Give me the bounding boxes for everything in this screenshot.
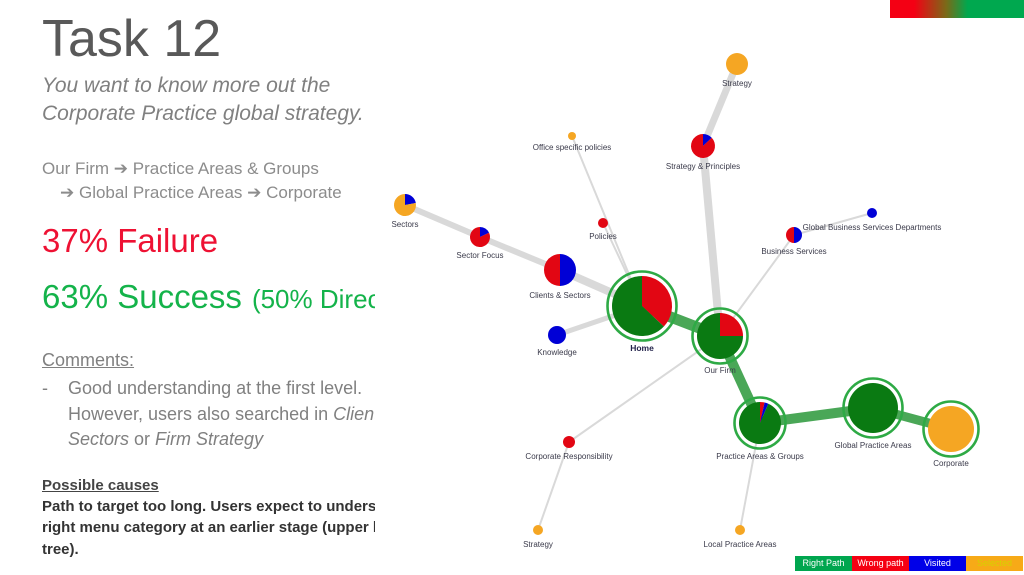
- legend-item-wrong-path[interactable]: Wrong path: [852, 556, 909, 571]
- graph-node-policies[interactable]: [598, 218, 608, 228]
- graph-node-knowledge[interactable]: [548, 326, 566, 344]
- graph-node-label-global_practice_areas: Global Practice Areas: [835, 441, 912, 450]
- task-subtitle: You want to know more out the Corporate …: [42, 72, 382, 127]
- node-pie-slice: [544, 254, 560, 286]
- node-pie-slice: [533, 525, 543, 535]
- graph-node-label-office_specific_policies: Office specific policies: [533, 143, 612, 152]
- node-pie-slice: [563, 436, 575, 448]
- navigation-graph-canvas[interactable]: StrategyOffice specific policiesStrategy…: [375, 18, 1024, 556]
- graph-edge-layer: [405, 64, 951, 530]
- slide-text-panel: Task 12 You want to know more out the Co…: [0, 0, 375, 575]
- node-pie-slice: [568, 132, 576, 140]
- node-pie-slice: [786, 227, 794, 243]
- graph-edge: [703, 64, 737, 146]
- node-pie-slice: [928, 406, 974, 452]
- graph-node-label-our_firm: Our Firm: [704, 366, 736, 375]
- legend: Right Path Wrong path Visited Selected: [795, 556, 1023, 571]
- graph-node-strategy_bottom[interactable]: [533, 525, 543, 535]
- possible-causes-heading: Possible causes: [42, 477, 159, 494]
- graph-node-label-strategy_top: Strategy: [722, 79, 752, 88]
- graph-node-office_specific_policies[interactable]: [568, 132, 576, 140]
- success-rate: 63% Success: [42, 278, 242, 315]
- graph-node-label-practice_areas_groups: Practice Areas & Groups: [716, 452, 804, 461]
- graph-node-business_services[interactable]: [786, 227, 802, 243]
- failure-rate: 37% Failure: [42, 222, 218, 260]
- graph-node-home[interactable]: [608, 272, 677, 341]
- node-pie-slice: [548, 326, 566, 344]
- node-pie-slice: [848, 383, 898, 433]
- legend-item-visited[interactable]: Visited: [909, 556, 966, 571]
- comment-text-1: Good understanding at the first level. H…: [68, 378, 362, 424]
- graph-node-global_practice_areas[interactable]: [844, 379, 903, 438]
- legend-item-selected[interactable]: Selected: [966, 556, 1023, 571]
- comment-italic-2: Firm Strategy: [155, 429, 263, 449]
- graph-node-label-corporate: Corporate: [933, 459, 969, 468]
- comment-bullet-dash: -: [42, 376, 48, 402]
- graph-node-clients_sectors[interactable]: [544, 254, 576, 286]
- graph-node-label-business_services: Business Services: [761, 247, 826, 256]
- page-title: Task 12: [42, 12, 221, 67]
- success-rate-row: 63% Success(50% Direct): [42, 278, 396, 316]
- graph-node-label-strategy_bottom: Strategy: [523, 540, 553, 549]
- graph-node-label-home: Home: [630, 343, 654, 353]
- legend-item-right-path[interactable]: Right Path: [795, 556, 852, 571]
- graph-node-label-strategy_principles: Strategy & Principles: [666, 162, 740, 171]
- graph-node-local_practice_areas[interactable]: [735, 525, 745, 535]
- graph-node-sectors[interactable]: [394, 194, 416, 216]
- node-pie-slice: [794, 227, 802, 243]
- node-pie-slice: [867, 208, 877, 218]
- node-pie-slice: [560, 254, 576, 286]
- comment-text-2: or: [129, 429, 155, 449]
- graph-node-strategy_top[interactable]: [726, 53, 748, 75]
- graph-node-label-clients_sectors: Clients & Sectors: [529, 291, 590, 300]
- graph-node-label-global_business_services: Global Business Services Departments: [803, 223, 942, 232]
- graph-node-global_business_services[interactable]: [867, 208, 877, 218]
- breadcrumb-line-2: ➔ Global Practice Areas ➔ Corporate: [60, 183, 342, 202]
- graph-node-our_firm[interactable]: [693, 309, 748, 364]
- graph-label-layer: StrategyOffice specific policiesStrategy…: [391, 79, 969, 549]
- graph-node-strategy_principles[interactable]: [691, 134, 715, 158]
- breadcrumb-line-1: Our Firm ➔ Practice Areas & Groups: [42, 159, 319, 178]
- graph-node-label-sectors: Sectors: [391, 220, 418, 229]
- node-pie-slice: [735, 525, 745, 535]
- graph-node-label-corporate_responsibility: Corporate Responsibility: [525, 452, 612, 461]
- graph-node-corporate[interactable]: [924, 402, 979, 457]
- graph-node-practice_areas_groups[interactable]: [735, 398, 786, 449]
- navigation-graph[interactable]: StrategyOffice specific policiesStrategy…: [375, 18, 1024, 556]
- graph-node-label-knowledge: Knowledge: [537, 348, 577, 357]
- graph-node-label-sector_focus: Sector Focus: [456, 251, 503, 260]
- node-pie-slice: [598, 218, 608, 228]
- graph-node-layer[interactable]: [394, 53, 979, 535]
- breadcrumb: Our Firm ➔ Practice Areas & Groups ➔ Glo…: [42, 157, 387, 205]
- graph-node-sector_focus[interactable]: [470, 227, 490, 247]
- graph-node-corporate_responsibility[interactable]: [563, 436, 575, 448]
- graph-node-label-policies: Policies: [589, 232, 617, 241]
- comments-heading: Comments:: [42, 350, 134, 371]
- graph-node-label-local_practice_areas: Local Practice Areas: [704, 540, 777, 549]
- node-pie-slice: [726, 53, 748, 75]
